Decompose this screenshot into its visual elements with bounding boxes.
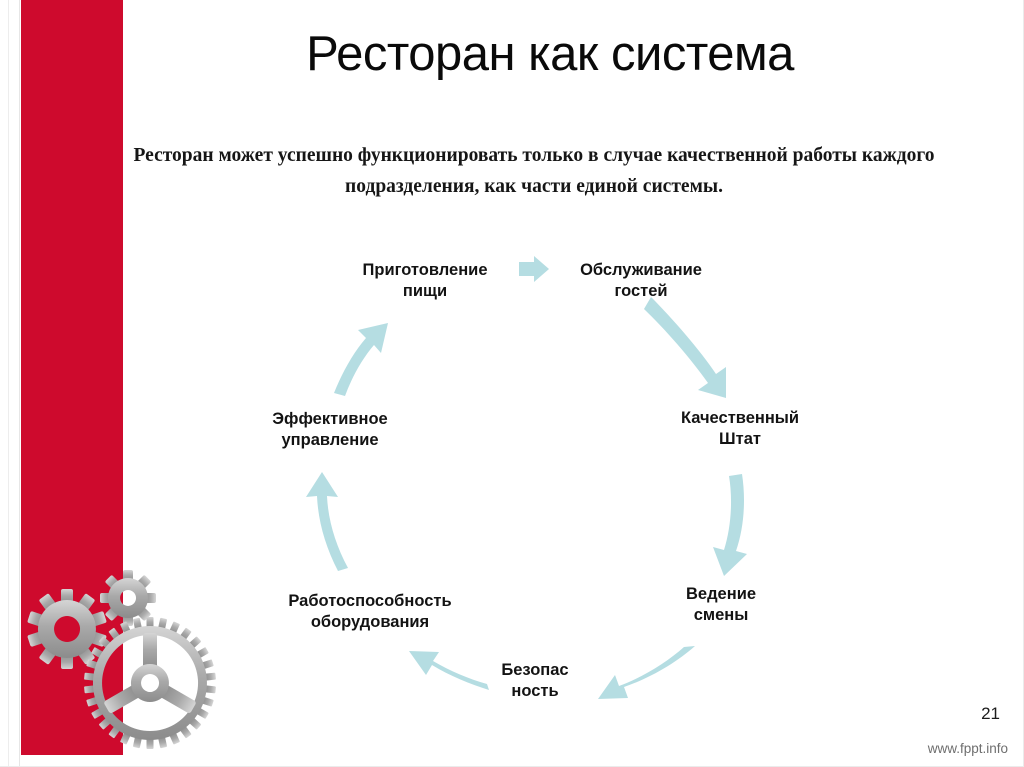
cycle-node-safety-line2: ность [460,681,610,702]
slide-frame-edge [8,0,9,767]
cycle-node-shift-line1: Ведение [628,584,814,605]
cycle-node-management-line2: управление [230,430,430,451]
cycle-node-safety: Безопас ность [460,660,610,702]
cycle-node-staff-line2: Штат [640,429,840,450]
cycle-node-shift-line2: смены [628,605,814,626]
arrow-shift-to-safety [598,646,695,699]
slide-title: Ресторан как система [140,28,960,82]
watermark: www.fppt.info [928,741,1008,756]
cycle-node-cooking-line2: пищи [330,281,520,302]
slide-frame-left [0,0,20,767]
cycle-node-safety-line1: Безопас [460,660,610,681]
gears-decoration [20,565,250,760]
cycle-node-staff: Качественный Штат [640,408,840,450]
cycle-node-cooking-line1: Приготовление [330,260,520,281]
cycle-node-equipment-line1: Работоспособность [250,591,490,612]
cycle-node-management: Эффективное управление [230,409,430,451]
cycle-node-equipment-line2: оборудования [250,612,490,633]
cycle-node-service-line2: гостей [546,281,736,302]
cycle-node-shift: Ведение смены [628,584,814,626]
arrow-staff-to-shift [713,474,747,576]
arrow-management-to-cooking [334,323,388,396]
cycle-node-service: Обслуживание гостей [546,260,736,302]
cycle-node-equipment: Работоспособность оборудования [250,591,490,633]
cycle-node-service-line1: Обслуживание [546,260,736,281]
cycle-node-management-line1: Эффективное [230,409,430,430]
arrow-equipment-to-management [306,472,348,571]
cycle-node-cooking: Приготовление пищи [330,260,520,302]
slide-canvas: Ресторан как система Ресторан может успе… [0,0,1024,767]
page-number: 21 [981,704,1000,724]
gear-medium-icon [27,589,107,669]
arrow-service-to-staff [644,297,726,398]
slide-subtitle: Ресторан может успешно функционировать т… [128,140,940,202]
cycle-node-staff-line1: Качественный [640,408,840,429]
arrow-cooking-to-service [519,256,549,282]
gear-large-icon [84,617,216,749]
